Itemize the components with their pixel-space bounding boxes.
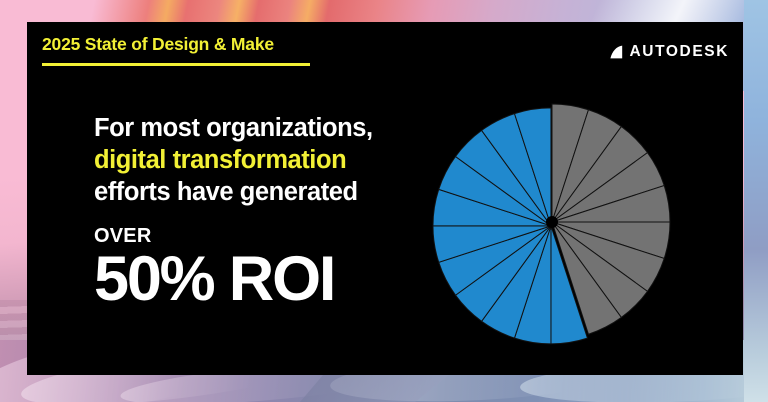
autodesk-wordmark: AUTODESK [630, 44, 730, 60]
panel-header: 2025 State of Design & Make AUTODESK [42, 36, 729, 90]
headline-block: For most organizations, digital transfor… [94, 112, 394, 208]
headline-line-1: For most organizations, [94, 112, 394, 144]
title-underline [42, 63, 310, 66]
poster-canvas: 2025 State of Design & Make AUTODESK For… [0, 0, 768, 402]
roi-pie-chart [419, 86, 679, 356]
brand-lockup: AUTODESK [603, 44, 730, 60]
content-panel: 2025 State of Design & Make AUTODESK For… [27, 22, 743, 375]
background-right-column [744, 0, 768, 402]
autodesk-logo-mark [603, 45, 623, 59]
pie-center-hub [546, 216, 558, 228]
stat-kicker: OVER [94, 226, 414, 246]
headline-line-2-accent: digital transformation [94, 144, 394, 176]
stat-value: 50% ROI [94, 250, 414, 309]
pie-chart-svg [419, 86, 679, 356]
headline-line-3: efforts have generated [94, 176, 394, 208]
stat-block: OVER 50% ROI [94, 226, 414, 309]
